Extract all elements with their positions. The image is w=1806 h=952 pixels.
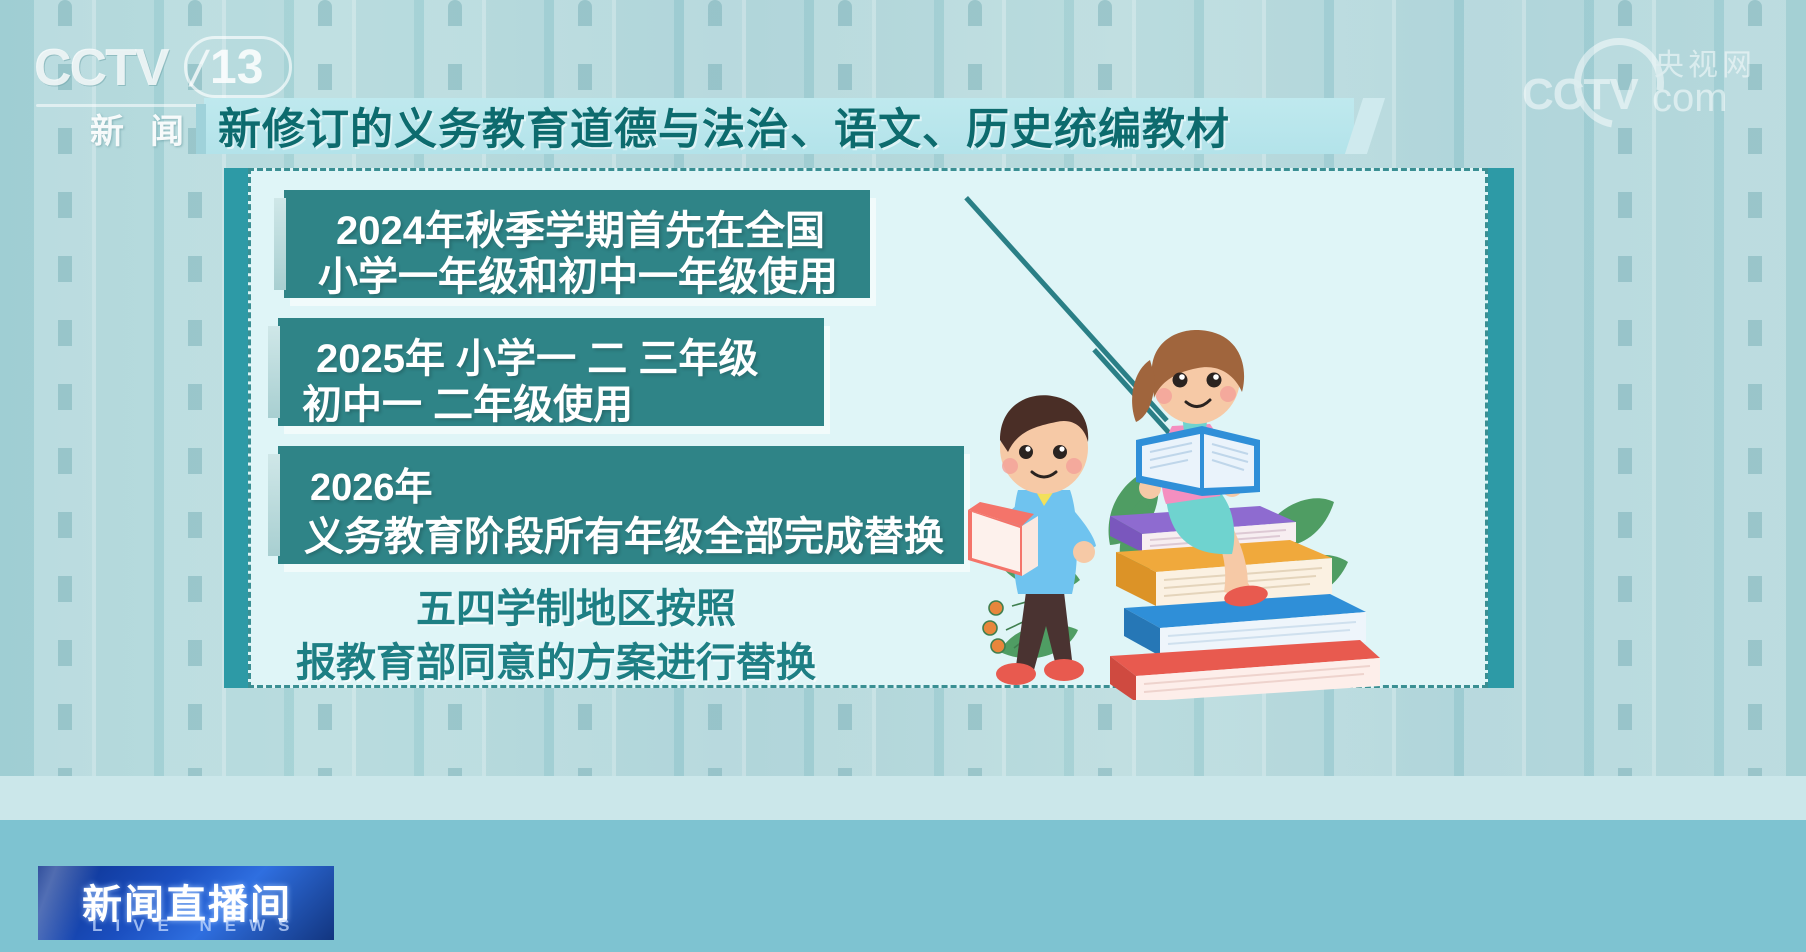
news-bug-subtitle: LIVE NEWS	[92, 916, 303, 936]
box-left-tab	[268, 326, 280, 418]
box-left-tab	[268, 454, 280, 556]
timeline-box-line2: 初中一 二年级使用	[302, 372, 633, 430]
timeline-box-2024: 2024年秋季学期首先在全国 小学一年级和初中一年级使用	[284, 190, 870, 298]
illustration-children-reading	[960, 330, 1380, 700]
girl-book	[1136, 426, 1260, 496]
cctv-wordmark: CCTV	[34, 39, 168, 97]
news-program-bug: 新闻直播间 LIVE NEWS	[38, 866, 334, 940]
timeline-box-2026: 2026年 义务教育阶段所有年级全部完成替换	[278, 446, 964, 564]
timeline-box-2025: 2025年 小学一 二 三年级 初中一 二年级使用	[278, 318, 824, 426]
page-title: 新修订的义务教育道德与法治、语文、历史统编教材	[204, 95, 1230, 157]
timeline-box-line2: 义务教育阶段所有年级全部完成替换	[304, 504, 944, 562]
cctv13-number: 13	[210, 40, 263, 95]
cctv-com-watermark: CCTV 央视网 com	[1522, 36, 1772, 128]
cctv13-sublabel: 新闻	[90, 104, 210, 153]
closing-note-line2: 报教育部同意的方案进行替换	[296, 630, 816, 688]
closing-note-line1: 五四学制地区按照	[416, 576, 736, 634]
timeline-box-line1: 2026年	[310, 456, 433, 511]
watermark-cctv-text: CCTV	[1522, 70, 1638, 120]
headline-banner: 新修订的义务教育道德与法治、语文、历史统编教材	[204, 98, 1354, 154]
boy-figure	[968, 395, 1096, 685]
panel-right-edge	[1488, 168, 1514, 688]
box-left-tab	[274, 198, 286, 290]
watermark-com-text: com	[1652, 76, 1728, 121]
timeline-box-line2: 小学一年级和初中一年级使用	[318, 244, 838, 302]
boy-book	[968, 502, 1038, 576]
floor-highlight-strip	[0, 776, 1806, 820]
panel-left-edge	[224, 168, 250, 688]
